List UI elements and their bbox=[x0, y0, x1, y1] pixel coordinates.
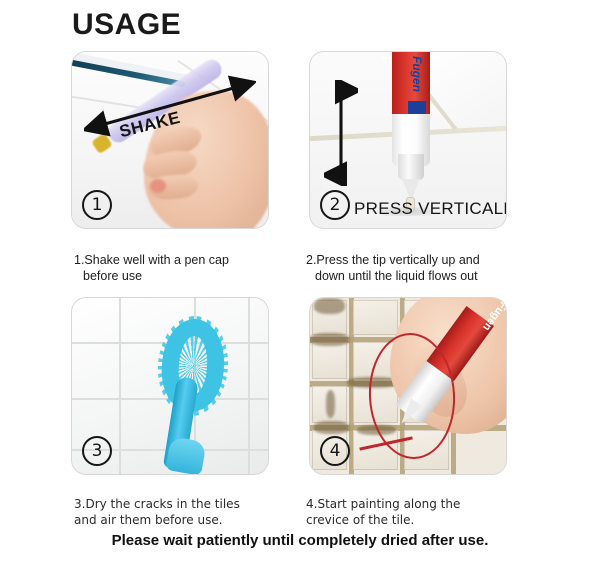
step-2-caption-line1: 2.Press the tip vertically up and bbox=[306, 253, 480, 267]
step-3-caption-line1: 3.Dry the cracks in the tiles bbox=[74, 497, 240, 511]
footer-note: Please wait patiently until completely d… bbox=[0, 532, 600, 549]
step-panel-2: F Fugen 2 PRESS VERTICALLY bbox=[310, 52, 506, 228]
step-4-caption-line1: 4.Start painting along the bbox=[306, 497, 460, 511]
step-panel-4: Fugen 4 bbox=[310, 298, 506, 474]
step-4-caption-line2: crevice of the tile. bbox=[306, 513, 521, 528]
page-title: USAGE bbox=[72, 8, 181, 42]
step-badge-4: 4 bbox=[320, 436, 350, 466]
step-1-caption: 1.Shake well with a pen cap before use bbox=[74, 236, 289, 300]
step-badge-2: 2 bbox=[320, 190, 350, 220]
vertical-double-arrow-icon bbox=[324, 80, 358, 186]
pen-brand-name: Fugen bbox=[410, 56, 424, 92]
step-badge-1: 1 bbox=[82, 190, 112, 220]
pen-brand-mark: F bbox=[379, 56, 394, 64]
step-3-caption-line2: and air them before use. bbox=[74, 513, 289, 528]
step-1-caption-line1: 1.Shake well with a pen cap bbox=[74, 253, 229, 267]
step-badge-3: 3 bbox=[82, 436, 112, 466]
step-1-caption-line2: before use bbox=[74, 268, 289, 284]
press-vertically-label: PRESS VERTICALLY bbox=[354, 199, 506, 219]
step-2-caption-line2: down until the liquid flows out bbox=[306, 268, 536, 284]
step-panel-3: 3 bbox=[72, 298, 268, 474]
step-panel-1: SHAKE 1 bbox=[72, 52, 268, 228]
step-2-caption: 2.Press the tip vertically up and down u… bbox=[306, 236, 536, 300]
